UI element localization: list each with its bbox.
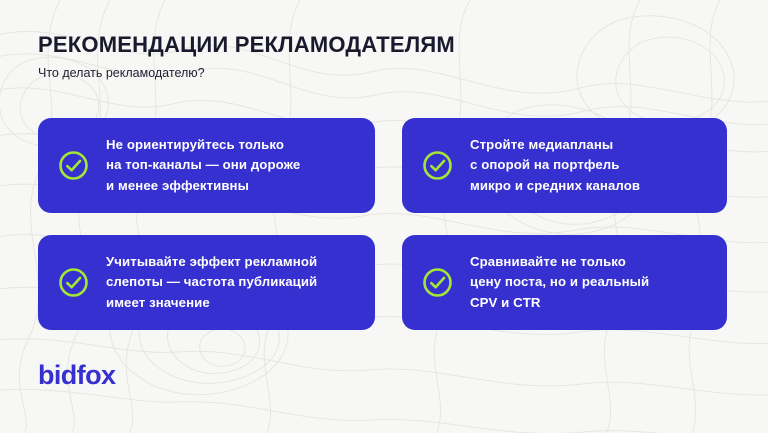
- page-subtitle: Что делать рекламодателю?: [38, 66, 455, 81]
- check-circle-icon: [422, 267, 453, 298]
- check-circle-icon: [422, 150, 453, 181]
- recommendation-card-text: Стройте медиапланы с опорой на портфель …: [470, 135, 640, 195]
- recommendation-card-mediaplans[interactable]: Стройте медиапланы с опорой на портфель …: [402, 118, 727, 213]
- recommendation-card-text: Сравнивайте не только цену поста, но и р…: [470, 252, 649, 312]
- recommendation-card-text: Учитывайте эффект рекламной слепоты — ча…: [106, 252, 317, 312]
- slide-header: РЕКОМЕНДАЦИИ РЕКЛАМОДАТЕЛЯМ Что делать р…: [38, 33, 455, 81]
- recommendation-card-ad-blindness[interactable]: Учитывайте эффект рекламной слепоты — ча…: [38, 235, 375, 330]
- bidfox-logo: bidfox: [38, 362, 115, 389]
- check-circle-icon: [58, 267, 89, 298]
- check-circle-icon: [58, 150, 89, 181]
- recommendation-card-top-channels[interactable]: Не ориентируйтесь только на топ-каналы —…: [38, 118, 375, 213]
- recommendation-card-cpv-ctr[interactable]: Сравнивайте не только цену поста, но и р…: [402, 235, 727, 330]
- recommendation-cards: Не ориентируйтесь только на топ-каналы —…: [38, 118, 727, 330]
- slide-canvas: РЕКОМЕНДАЦИИ РЕКЛАМОДАТЕЛЯМ Что делать р…: [0, 0, 768, 433]
- page-title: РЕКОМЕНДАЦИИ РЕКЛАМОДАТЕЛЯМ: [38, 33, 455, 57]
- recommendation-card-text: Не ориентируйтесь только на топ-каналы —…: [106, 135, 300, 195]
